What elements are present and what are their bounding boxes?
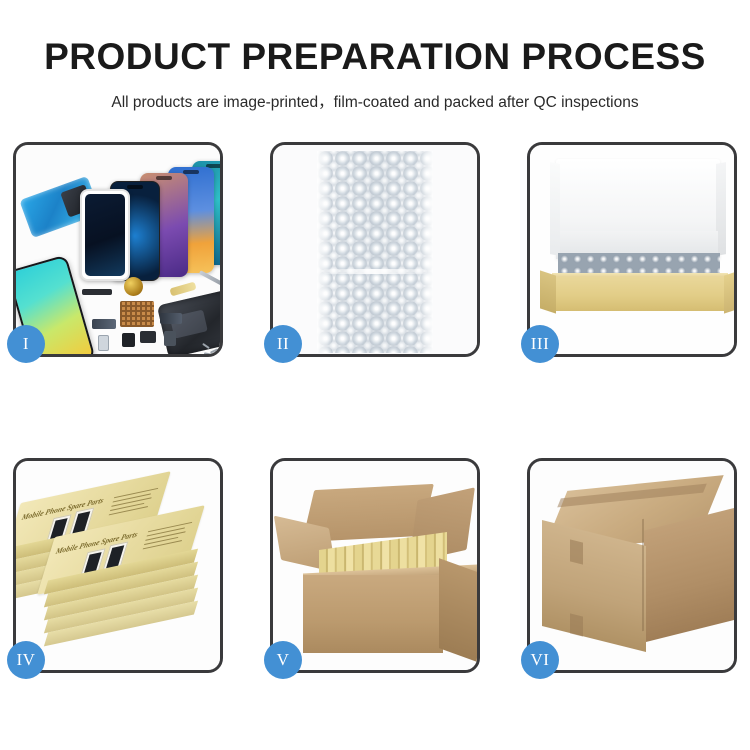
process-step-grid: I II: [13, 142, 737, 673]
step-panel-2[interactable]: II: [270, 142, 480, 357]
step-panel-1[interactable]: I: [13, 142, 223, 357]
retail-box-stack: Mobile Phone Spare Parts: [18, 473, 220, 670]
packing-tape-front-lower-icon: [570, 613, 583, 636]
packing-tape-front-icon: [570, 539, 583, 564]
wrap-seam-icon: [323, 269, 427, 274]
step-badge-5: V: [264, 641, 302, 679]
step-panel-3[interactable]: III: [527, 142, 737, 357]
header: PRODUCT PREPARATION PROCESS All products…: [0, 0, 750, 112]
notch-icon: [127, 185, 143, 189]
carton-front-icon: [303, 575, 443, 653]
label-text-lines: [108, 488, 158, 519]
phone-screen-fan: [78, 159, 220, 279]
notch-icon: [156, 176, 172, 180]
step-image-bubble-wrap-packing: [273, 145, 477, 354]
step-panel-5[interactable]: V: [270, 458, 480, 673]
flex-cable-icon: [82, 289, 112, 295]
step-panel-6[interactable]: VI: [527, 458, 737, 673]
flex-cable-gray-icon: [92, 319, 116, 329]
page-title: PRODUCT PREPARATION PROCESS: [0, 38, 750, 75]
wrap-edge-right-icon: [419, 151, 433, 353]
step-image-phone-screens-and-parts: [16, 145, 220, 354]
phone-screen-white-frame-icon: [80, 189, 130, 281]
sealed-carton: [542, 483, 734, 659]
step-badge-2: II: [264, 325, 302, 363]
step-badge-4: IV: [7, 641, 45, 679]
step-image-open-carton-with-boxes: [273, 461, 477, 670]
sim-tray-icon: [98, 335, 109, 351]
step-badge-1: I: [7, 325, 45, 363]
wrap-edge-left-icon: [317, 151, 331, 353]
copper-mesh-icon: [120, 301, 154, 327]
page-subtitle: All products are image-printed，film-coat…: [0, 90, 750, 112]
step-image-stacked-retail-boxes: Mobile Phone Spare Parts: [16, 461, 220, 670]
carton-seam-icon: [642, 519, 644, 631]
step-panel-4[interactable]: Mobile Phone Spare Parts: [13, 458, 223, 673]
process-row-2: Mobile Phone Spare Parts: [13, 458, 737, 673]
step-image-sealed-shipping-carton: [530, 461, 734, 670]
speaker-module-icon: [124, 277, 143, 296]
camera-module-icon: [140, 331, 156, 343]
flex-cable-dark-icon: [160, 313, 182, 324]
process-row-1: I II: [13, 142, 737, 357]
product-preparation-infographic: PRODUCT PREPARATION PROCESS All products…: [0, 0, 750, 750]
bubble-texture-overlay-icon: [317, 151, 433, 353]
step-badge-6: VI: [521, 641, 559, 679]
step-badge-3: III: [521, 325, 559, 363]
open-carton: [279, 479, 477, 667]
box-front-icon: [552, 277, 728, 311]
bubble-wrap-roll: [317, 151, 433, 353]
spare-parts-group: [78, 275, 220, 354]
notch-icon: [183, 170, 199, 174]
chip-component-icon: [122, 333, 135, 347]
carton-side-icon: [644, 508, 734, 643]
flex-cable-gold-icon: [169, 282, 196, 297]
label-text-lines: [142, 522, 192, 553]
screws-icon: [202, 343, 220, 354]
battery-connector-icon: [164, 331, 176, 346]
step-image-open-inner-box-with-wrapped-items: [530, 145, 734, 354]
